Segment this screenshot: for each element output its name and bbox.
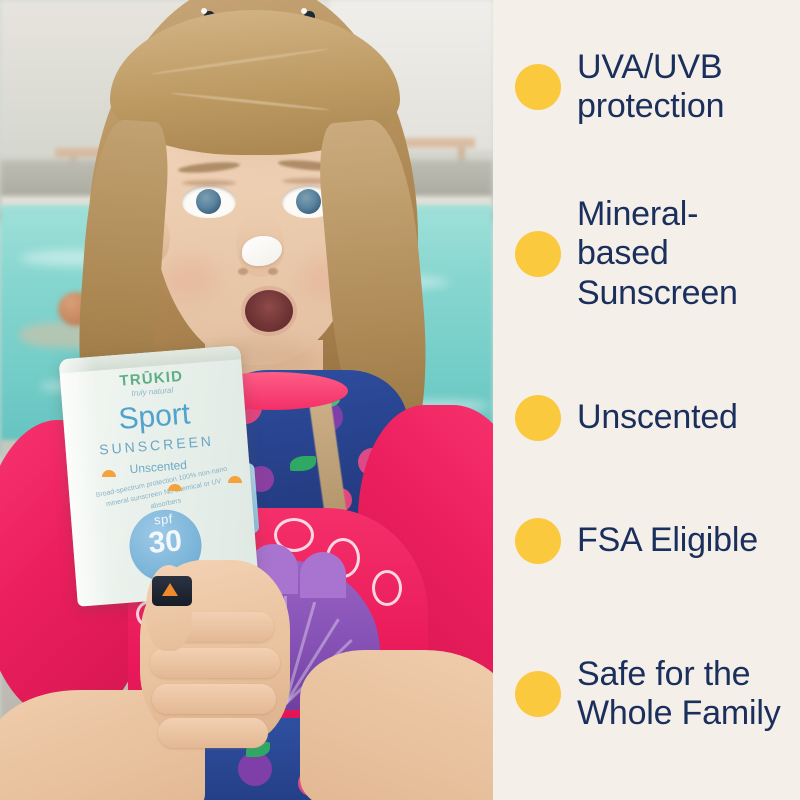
- child-subject: TRŪKID truly natural Sport SUNSCREEN Uns…: [0, 0, 493, 800]
- iris: [296, 189, 321, 214]
- cheek-blush: [162, 258, 218, 300]
- eyelid: [182, 180, 236, 186]
- promo-graphic: TRŪKID truly natural Sport SUNSCREEN Uns…: [0, 0, 800, 800]
- berry-print: [238, 752, 272, 786]
- sun-icon: [168, 484, 182, 491]
- finger: [152, 684, 276, 714]
- feature-list-panel: UVA/UVB protection Mineral- based Sunscr…: [493, 0, 800, 800]
- eye: [182, 185, 236, 218]
- feature-label: Safe for the Whole Family: [577, 655, 781, 734]
- feature-item-uva-uvb-protection: UVA/UVB protection: [493, 48, 800, 127]
- iris: [196, 189, 221, 214]
- yellow-dot-icon: [515, 231, 561, 277]
- eye-glint: [201, 8, 207, 14]
- leaf-print: [290, 456, 316, 471]
- feature-label: Unscented: [577, 398, 738, 437]
- eye-glint: [301, 8, 307, 14]
- feature-item-fsa-eligible: FSA Eligible: [493, 518, 800, 564]
- sun-icon: [102, 470, 116, 477]
- product-lifestyle-photo: TRŪKID truly natural Sport SUNSCREEN Uns…: [0, 0, 493, 800]
- sun-icon: [228, 476, 242, 483]
- feature-item-safe-for-whole-family: Safe for the Whole Family: [493, 655, 800, 734]
- yellow-dot-icon: [515, 64, 561, 110]
- arm: [300, 650, 493, 800]
- yellow-dot-icon: [515, 395, 561, 441]
- yellow-dot-icon: [515, 671, 561, 717]
- spf-value: 30: [128, 527, 202, 559]
- yellow-dot-icon: [515, 518, 561, 564]
- feature-label: Mineral- based Sunscreen: [577, 195, 738, 313]
- feature-label: FSA Eligible: [577, 521, 758, 560]
- feature-label: UVA/UVB protection: [577, 48, 724, 127]
- vest-bubble-graphic: [372, 570, 402, 606]
- star-icon: [162, 583, 178, 596]
- finger: [150, 648, 280, 678]
- nostril: [268, 268, 278, 275]
- mouth: [245, 290, 293, 332]
- nostril: [238, 268, 248, 275]
- feature-item-unscented: Unscented: [493, 395, 800, 441]
- finger: [158, 718, 268, 748]
- feature-item-mineral-based-sunscreen: Mineral- based Sunscreen: [493, 195, 800, 313]
- shell-bump: [300, 552, 346, 598]
